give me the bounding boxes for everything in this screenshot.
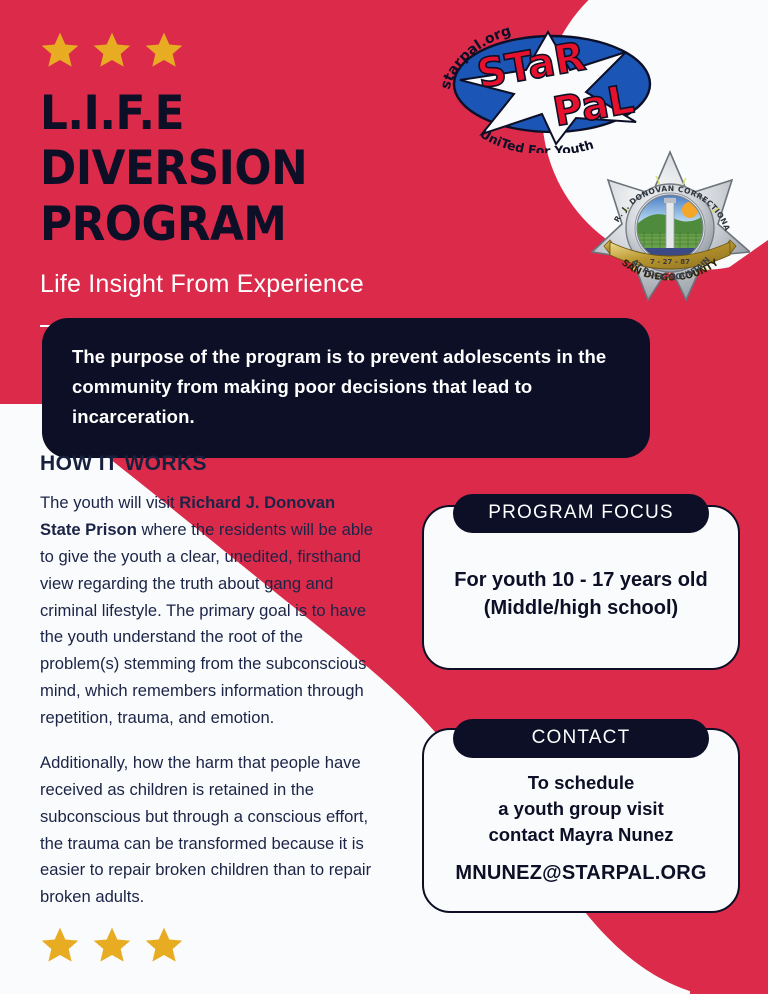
how-it-works-section: HOW IT WORKS The youth will visit Richar… xyxy=(40,452,375,911)
page-subtitle: Life Insight From Experience xyxy=(40,270,440,299)
how-it-works-paragraph-2: Additionally, how the harm that people h… xyxy=(40,750,375,911)
program-focus-line-1: For youth 10 - 17 years old xyxy=(446,567,716,595)
star-icon xyxy=(92,925,132,965)
contact-line-2: a youth group visit xyxy=(442,796,720,822)
purpose-callout: The purpose of the program is to prevent… xyxy=(42,318,650,458)
stars-row-top xyxy=(40,30,184,70)
star-icon xyxy=(40,30,80,70)
page-title-line-2: PROGRAM xyxy=(40,197,286,252)
program-focus-body: For youth 10 - 17 years old (Middle/high… xyxy=(446,567,716,622)
contact-body: To schedule a youth group visit contact … xyxy=(442,770,720,885)
poster-page: L.I.F.E DIVERSION PROGRAM Life Insight F… xyxy=(0,0,768,994)
rj-donovan-badge: R. J. DONOVAN CORRECTIONAL FACILITY SAN … xyxy=(590,148,750,308)
title-block: L.I.F.E DIVERSION PROGRAM Life Insight F… xyxy=(40,86,440,327)
star-icon xyxy=(40,925,80,965)
page-title-line-1: L.I.F.E DIVERSION xyxy=(40,86,307,196)
contact-pill: CONTACT xyxy=(453,719,709,758)
star-icon xyxy=(144,925,184,965)
star-icon xyxy=(92,30,132,70)
contact-line-1: To schedule xyxy=(442,770,720,796)
starpal-logo: starpal.org STaR PaL UniTed For Youth xyxy=(430,18,675,153)
how-it-works-heading: HOW IT WORKS xyxy=(40,452,375,476)
star-icon xyxy=(144,30,184,70)
paragraph-1-post: where the residents will be able to give… xyxy=(40,520,373,727)
program-focus-line-2: (Middle/high school) xyxy=(446,595,716,623)
program-focus-pill: PROGRAM FOCUS xyxy=(453,494,709,533)
how-it-works-paragraph-1: The youth will visit Richard J. Donovan … xyxy=(40,490,375,732)
contact-email[interactable]: MNUNEZ@STARPAL.ORG xyxy=(442,862,720,885)
purpose-text: The purpose of the program is to prevent… xyxy=(72,342,620,432)
contact-line-3: contact Mayra Nunez xyxy=(442,822,720,848)
paragraph-1-pre: The youth will visit xyxy=(40,493,179,512)
page-title: L.I.F.E DIVERSION PROGRAM xyxy=(40,86,412,252)
stars-row-bottom xyxy=(40,925,184,965)
badge-date-text: 7 - 27 - 87 xyxy=(650,258,690,266)
